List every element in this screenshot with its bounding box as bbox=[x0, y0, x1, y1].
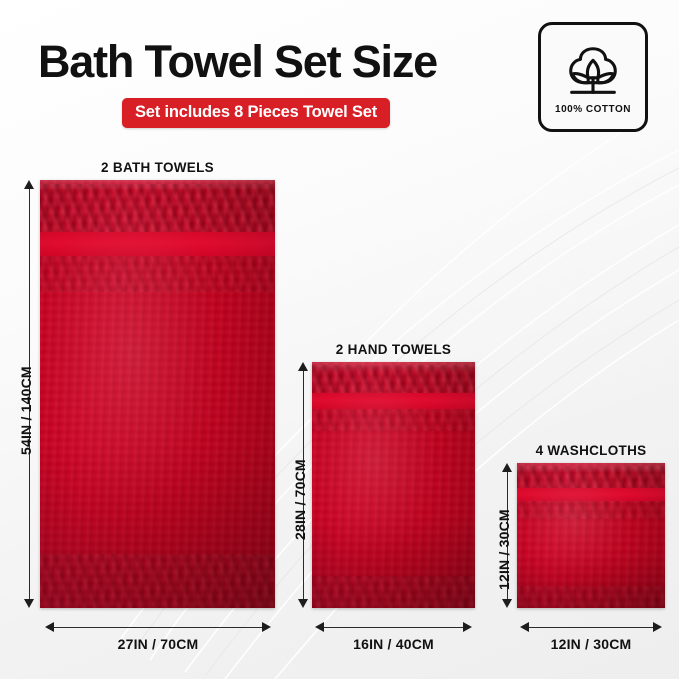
towel-vignette bbox=[312, 362, 475, 608]
arrow-left-icon bbox=[45, 622, 54, 632]
hand-towel-width-dimension bbox=[315, 620, 472, 634]
hand-towel-height-label: 28IN / 70CM bbox=[292, 459, 308, 540]
cotton-badge-label: 100% COTTON bbox=[555, 104, 631, 115]
bath-towel-width-label: 27IN / 70CM bbox=[45, 636, 271, 652]
arrow-up-icon bbox=[502, 463, 512, 472]
set-includes-badge: Set includes 8 Pieces Towel Set bbox=[122, 98, 390, 128]
arrow-up-icon bbox=[24, 180, 34, 189]
bath-towel-graphic bbox=[40, 180, 275, 608]
page-title: Bath Towel Set Size bbox=[38, 36, 437, 88]
arrow-left-icon bbox=[520, 622, 529, 632]
washcloth-group-label: 4 WASHCLOTHS bbox=[517, 443, 665, 458]
arrow-left-icon bbox=[315, 622, 324, 632]
arrow-right-icon bbox=[463, 622, 472, 632]
washcloth-width-dimension bbox=[520, 620, 662, 634]
arrow-right-icon bbox=[262, 622, 271, 632]
cotton-badge: 100% COTTON bbox=[538, 22, 648, 132]
hand-towel-group-label: 2 HAND TOWELS bbox=[312, 342, 475, 357]
bath-towel-group-label: 2 BATH TOWELS bbox=[40, 160, 275, 175]
bath-towel-height-label: 54IN / 140CM bbox=[18, 366, 34, 455]
cotton-plant-icon bbox=[562, 41, 624, 103]
washcloth-width-label: 12IN / 30CM bbox=[520, 636, 662, 652]
arrow-down-icon bbox=[502, 599, 512, 608]
bath-towel-width-dimension bbox=[45, 620, 271, 634]
arrow-down-icon bbox=[298, 599, 308, 608]
towel-vignette bbox=[40, 180, 275, 608]
towel-vignette bbox=[517, 463, 665, 608]
arrow-right-icon bbox=[653, 622, 662, 632]
arrow-up-icon bbox=[298, 362, 308, 371]
hand-towel-width-label: 16IN / 40CM bbox=[315, 636, 472, 652]
arrow-down-icon bbox=[24, 599, 34, 608]
hand-towel-graphic bbox=[312, 362, 475, 608]
towel-size-infographic: Bath Towel Set Size Set includes 8 Piece… bbox=[0, 0, 679, 679]
washcloth-graphic bbox=[517, 463, 665, 608]
washcloth-height-label: 12IN / 30CM bbox=[496, 509, 512, 590]
